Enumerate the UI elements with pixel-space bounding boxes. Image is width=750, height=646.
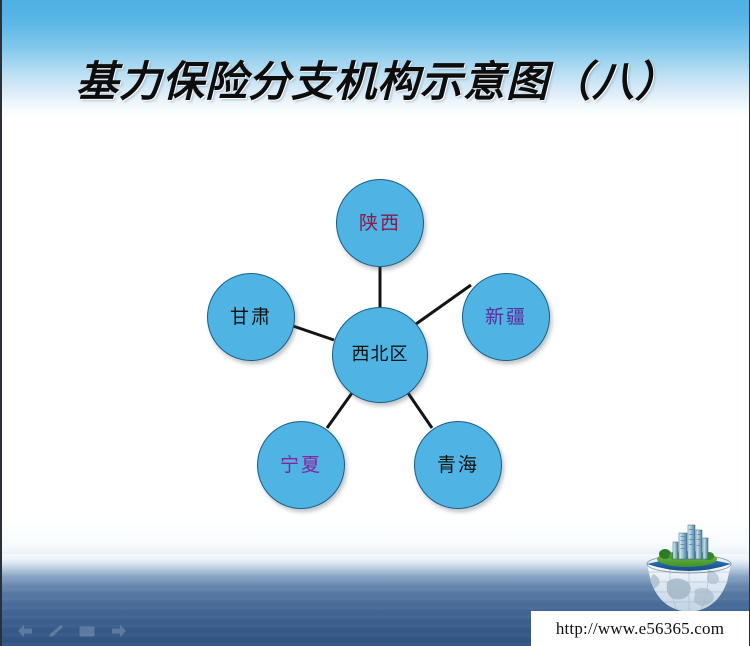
diagram-node-xinjiang-label: 新疆: [485, 308, 527, 327]
diagram-node-ningxia-label: 宁夏: [280, 456, 322, 475]
link-center-qinghai: [408, 393, 432, 428]
diagram-node-ningxia[interactable]: 宁夏: [257, 421, 345, 509]
diagram-node-gansu[interactable]: 甘肃: [207, 273, 295, 361]
earth-city-globe-logo: [637, 520, 741, 616]
diagram-node-gansu-label: 甘肃: [230, 308, 272, 327]
presentation-slide: 基力保险分支机构示意图（八） 西北区 陕西 新疆 青海 宁夏 甘肃: [0, 0, 750, 646]
diagram-node-qinghai-label: 青海: [437, 456, 479, 475]
diagram-node-xinjiang[interactable]: 新疆: [462, 273, 550, 361]
page-title: 基力保险分支机构示意图（八）: [2, 60, 750, 106]
link-center-gansu: [293, 326, 334, 340]
org-radial-diagram: 西北区 陕西 新疆 青海 宁夏 甘肃: [177, 160, 587, 520]
watermark-url-text: http://www.e56365.com: [556, 619, 724, 639]
previous-arrow-icon[interactable]: [16, 624, 34, 638]
diagram-node-shaanxi-label: 陕西: [359, 214, 401, 233]
diagram-node-qinghai[interactable]: 青海: [414, 421, 502, 509]
pen-tool-icon[interactable]: [48, 624, 64, 638]
diagram-node-center-label: 西北区: [352, 346, 409, 364]
watermark-url-box: http://www.e56365.com: [531, 611, 749, 646]
diagram-node-shaanxi[interactable]: 陕西: [336, 179, 424, 267]
slideshow-nav-controls[interactable]: [16, 624, 128, 638]
next-arrow-icon[interactable]: [110, 624, 128, 638]
slide-menu-icon[interactable]: [78, 624, 96, 638]
link-center-ningxia: [327, 393, 352, 428]
diagram-node-center[interactable]: 西北区: [332, 307, 428, 403]
